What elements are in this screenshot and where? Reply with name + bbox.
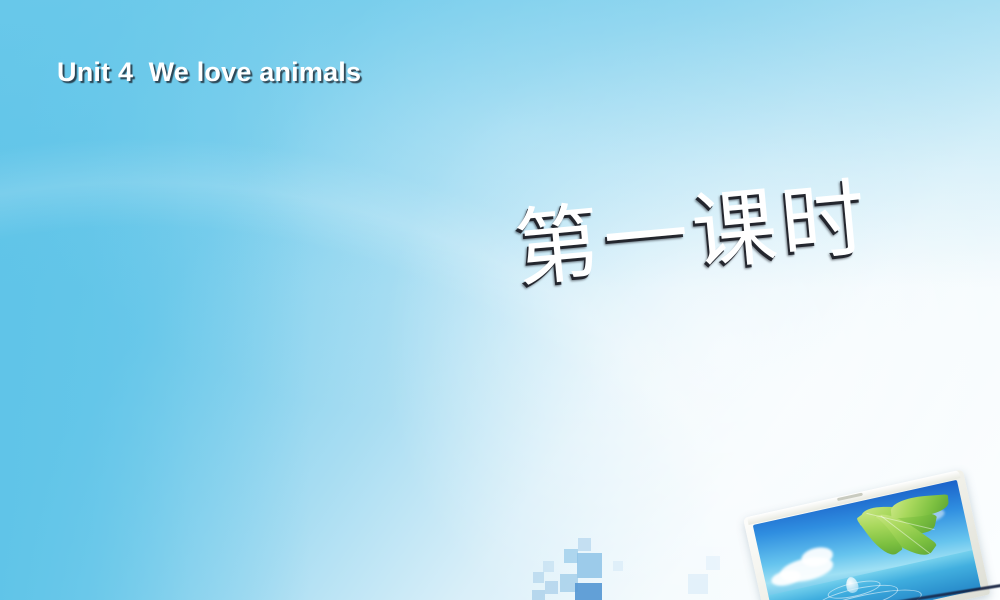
decorative-square bbox=[578, 538, 591, 551]
decorative-square bbox=[543, 561, 554, 572]
laptop-body bbox=[743, 469, 990, 600]
presentation-slide: Unit 4 We love animals 第一课时 bbox=[0, 0, 1000, 600]
decorative-square bbox=[613, 561, 623, 571]
lesson-heading: 第一课时 bbox=[511, 176, 873, 293]
decorative-square bbox=[575, 583, 602, 600]
cloud-icon bbox=[770, 568, 802, 588]
decorative-square bbox=[564, 549, 578, 563]
decorative-square bbox=[545, 581, 558, 594]
unit-title: Unit 4 We love animals bbox=[57, 57, 361, 88]
decorative-square bbox=[532, 590, 545, 600]
decorative-square bbox=[577, 553, 602, 578]
decorative-square bbox=[688, 574, 708, 594]
laptop-illustration bbox=[743, 462, 1000, 600]
decorative-square bbox=[533, 572, 544, 583]
decorative-square bbox=[706, 556, 720, 570]
